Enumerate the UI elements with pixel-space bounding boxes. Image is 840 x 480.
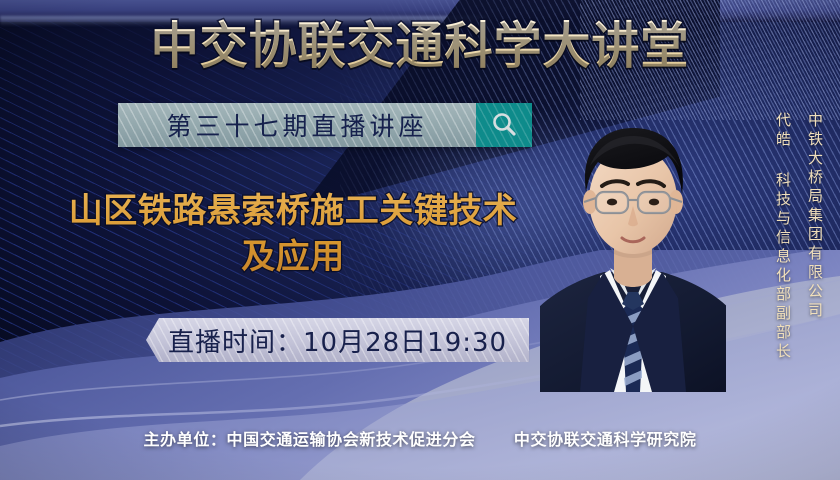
main-title: 中交协联交通科学大讲堂 [17, 18, 823, 74]
speaker-name-title: 代皓 科技与信息化部副部长 [773, 112, 794, 362]
live-time-label: 直播时间：10月28日19:30 [168, 322, 507, 359]
search-button[interactable] [476, 103, 532, 147]
live-lecture-poster: 中交协联交通科学大讲堂 中交协联交通科学大讲堂 第三十七期直播讲座 山区铁路悬索… [0, 0, 840, 480]
footer-organizers: 主办单位：中国交通运输协会新技术促进分会 中交协联交通科学研究院 [0, 426, 840, 450]
speaker-organization: 中铁大桥局集团有限公司 [805, 112, 826, 321]
lecture-topic-line1: 山区铁路悬索桥施工关键技术 [28, 188, 558, 234]
speaker-portrait [540, 92, 726, 392]
live-time-badge: 直播时间：10月28日19:30 [146, 318, 529, 362]
lecture-topic: 山区铁路悬索桥施工关键技术 及应用 [28, 188, 558, 280]
footer-institute: 中交协联交通科学研究院 [514, 430, 697, 449]
lecture-topic-line2: 及应用 [28, 234, 558, 280]
episode-label-box: 第三十七期直播讲座 [118, 103, 476, 147]
episode-label: 第三十七期直播讲座 [166, 107, 427, 143]
episode-bar[interactable]: 第三十七期直播讲座 [118, 103, 532, 147]
search-icon [489, 110, 519, 140]
footer-host: 主办单位：中国交通运输协会新技术促进分会 [144, 430, 476, 449]
